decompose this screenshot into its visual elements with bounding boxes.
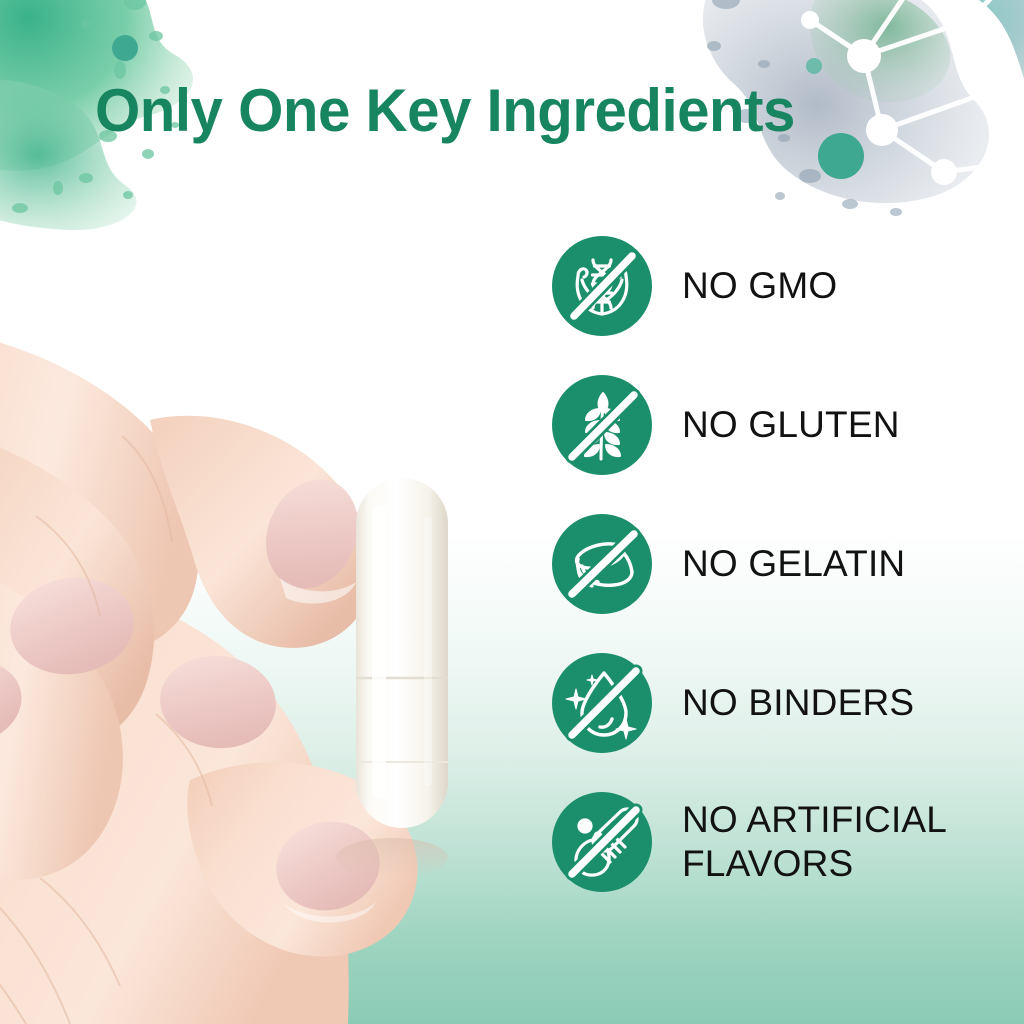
benefit-row: NO GLUTEN: [552, 375, 1022, 475]
benefit-row: NO ARTIFICIAL FLAVORS: [552, 792, 1022, 892]
no-artificial-flavors-icon: [552, 792, 652, 892]
benefit-row: NO GMO: [552, 236, 1022, 336]
no-binders-icon: [552, 653, 652, 753]
page-title: Only One Key Ingredients: [95, 78, 929, 144]
benefit-label: NO GELATIN: [682, 543, 905, 585]
capsule: [356, 478, 448, 828]
no-artificial-flavors-badge: [552, 792, 652, 892]
benefit-label: NO BINDERS: [682, 682, 914, 724]
benefit-row: NO GELATIN: [552, 514, 1022, 614]
no-gmo-icon: [552, 236, 652, 336]
no-gmo-badge: [552, 236, 652, 336]
benefit-label: NO ARTIFICIAL FLAVORS: [682, 798, 947, 886]
no-gelatin-icon: [552, 514, 652, 614]
no-binders-badge: [552, 653, 652, 753]
hand-holding-capsule-photo: [0, 310, 520, 1024]
no-gluten-badge: [552, 375, 652, 475]
benefits-list: NO GMO: [552, 236, 1022, 892]
benefit-label: NO GMO: [682, 265, 837, 307]
benefit-label: NO GLUTEN: [682, 404, 900, 446]
no-gelatin-badge: [552, 514, 652, 614]
accent-dot-small: [112, 35, 138, 61]
infographic-canvas: Only One Key Ingredients: [0, 0, 1024, 1024]
accent-dot-tiny: [806, 58, 822, 74]
no-gluten-icon: [552, 375, 652, 475]
benefit-row: NO BINDERS: [552, 653, 1022, 753]
